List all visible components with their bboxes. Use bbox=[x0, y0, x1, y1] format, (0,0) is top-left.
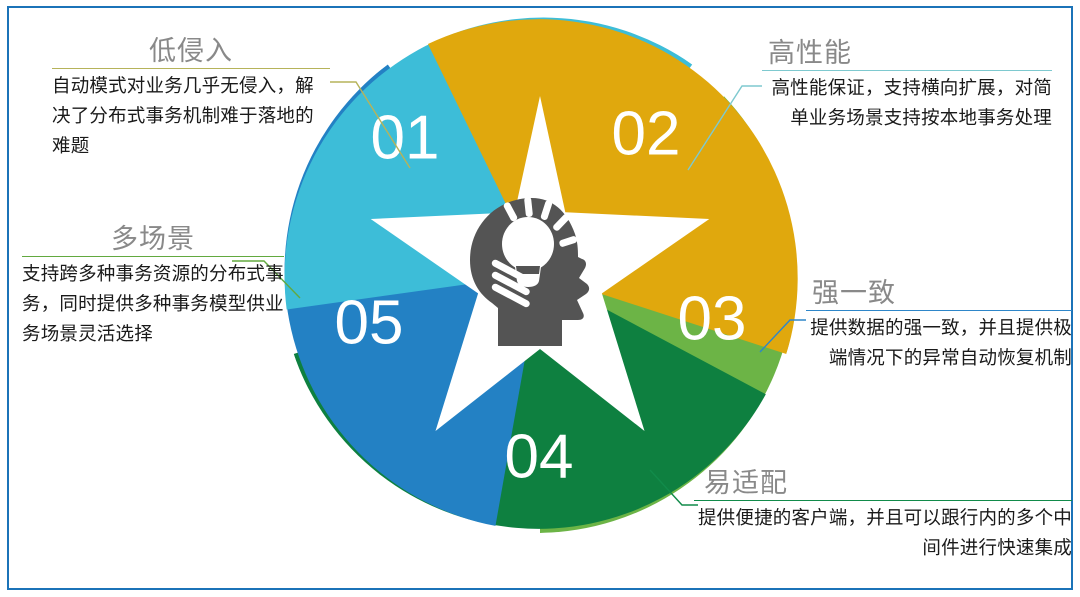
infographic-slide: 01 02 03 04 05 bbox=[0, 0, 1080, 597]
callout-body-04: 提供便捷的客户端，并且可以跟行内的多个中间件进行快速集成 bbox=[694, 503, 1072, 563]
callout-multi-scenario[interactable]: 多场景 支持跨多种事务资源的分布式事务，同时提供多种事务模型供业务场景灵活选择 bbox=[22, 224, 284, 349]
segment-number-02: 02 bbox=[612, 99, 681, 168]
segment-number-04: 04 bbox=[505, 422, 574, 491]
callout-rule-04 bbox=[694, 500, 1072, 501]
callout-title-02: 高性能 bbox=[762, 38, 1052, 69]
callout-rule-01 bbox=[52, 68, 330, 69]
segment-number-03: 03 bbox=[678, 284, 747, 353]
segment-number-01: 01 bbox=[371, 103, 440, 172]
callout-easy-adaptation[interactable]: 易适配 提供便捷的客户端，并且可以跟行内的多个中间件进行快速集成 bbox=[694, 468, 1072, 563]
segment-number-05: 05 bbox=[335, 288, 404, 357]
callout-rule-03 bbox=[806, 310, 1072, 311]
head-with-lightbulb-icon bbox=[466, 196, 614, 348]
callout-title-03: 强一致 bbox=[806, 278, 1072, 309]
callout-body-03: 提供数据的强一致，并且提供极端情况下的异常自动恢复机制 bbox=[806, 313, 1072, 373]
callout-strong-consistency[interactable]: 强一致 提供数据的强一致，并且提供极端情况下的异常自动恢复机制 bbox=[806, 278, 1072, 373]
callout-title-01: 低侵入 bbox=[52, 36, 330, 67]
callout-body-05: 支持跨多种事务资源的分布式事务，同时提供多种事务模型供业务场景灵活选择 bbox=[22, 259, 284, 349]
callout-high-performance[interactable]: 高性能 高性能保证，支持横向扩展，对简单业务场景支持按本地事务处理 bbox=[762, 38, 1052, 133]
callout-rule-05 bbox=[22, 256, 284, 257]
callout-body-01: 自动模式对业务几乎无侵入，解决了分布式事务机制难于落地的难题 bbox=[52, 71, 330, 161]
callout-low-intrusion[interactable]: 低侵入 自动模式对业务几乎无侵入，解决了分布式事务机制难于落地的难题 bbox=[52, 36, 330, 161]
callout-rule-02 bbox=[762, 70, 1052, 71]
callout-title-04: 易适配 bbox=[694, 468, 1072, 499]
callout-body-02: 高性能保证，支持横向扩展，对简单业务场景支持按本地事务处理 bbox=[762, 73, 1052, 133]
callout-title-05: 多场景 bbox=[22, 224, 284, 255]
